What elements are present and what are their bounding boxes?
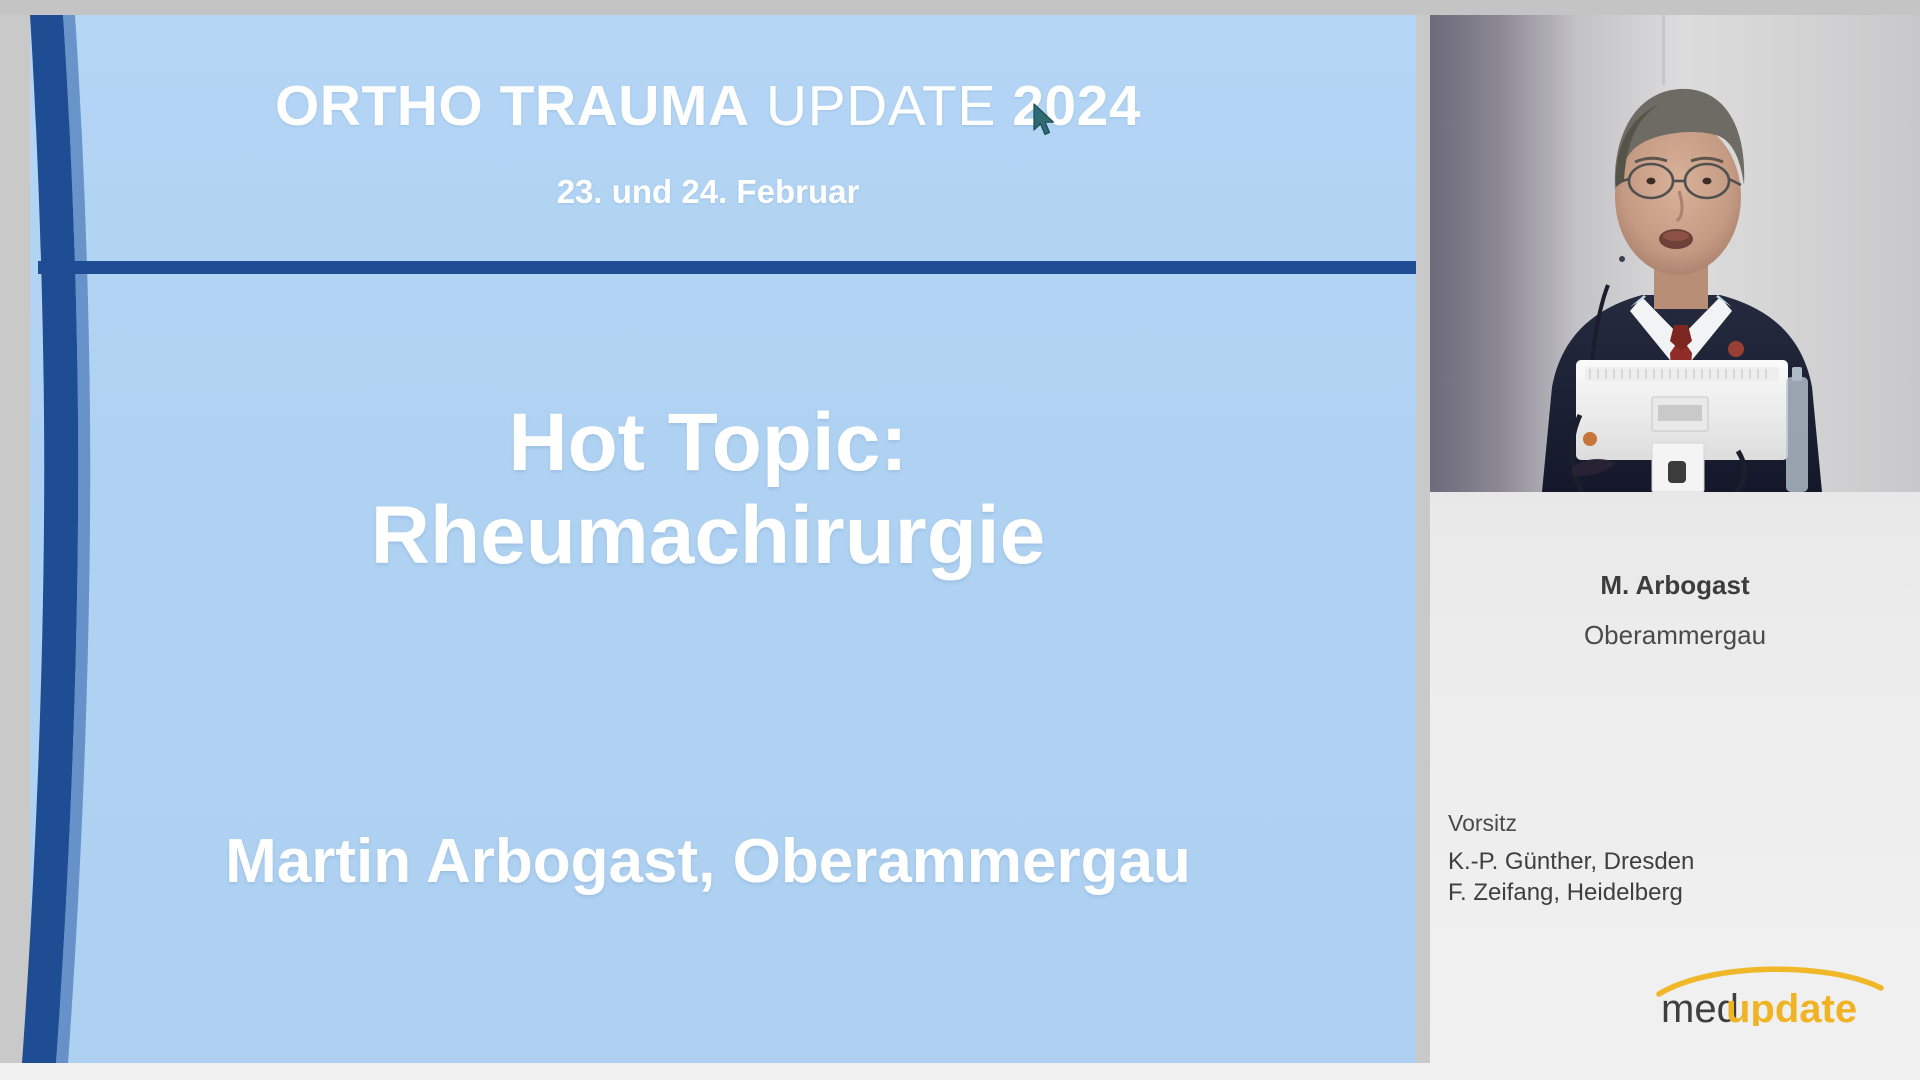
top-letterbox-strip: [0, 0, 1920, 15]
slide-header: ORTHO TRAUMA UPDATE 2024 23. und 24. Feb…: [0, 15, 1416, 273]
slide-body: Hot Topic: Rheumachirurgie Martin Arboga…: [0, 274, 1416, 1063]
medupdate-logo[interactable]: med update: [1655, 960, 1885, 1026]
arrow-pointer-icon: [1032, 103, 1058, 137]
presentation-slide: ORTHO TRAUMA UPDATE 2024 23. und 24. Feb…: [0, 15, 1416, 1063]
event-title: ORTHO TRAUMA UPDATE 2024: [0, 77, 1416, 135]
bottom-letterbox-strip: [0, 1063, 1920, 1080]
event-title-part-update: UPDATE: [766, 74, 996, 138]
chair-block: Vorsitz K.-P. Günther, Dresden F. Zeifan…: [1448, 810, 1908, 908]
slide-presenter-name: Martin Arbogast, Oberammergau: [0, 826, 1416, 897]
header-divider: [38, 261, 1416, 274]
speaker-name: M. Arbogast: [1430, 570, 1920, 601]
slide-main-title-line-1: Hot Topic:: [0, 396, 1416, 489]
slide-main-title-line-2: Rheumachirurgie: [0, 489, 1416, 582]
speaker-side-panel: M. Arbogast Oberammergau Vorsitz K.-P. G…: [1430, 15, 1920, 1063]
chair-person-2: F. Zeifang, Heidelberg: [1448, 878, 1908, 909]
speaker-video-feed[interactable]: [1430, 15, 1920, 492]
event-date: 23. und 24. Februar: [0, 173, 1416, 211]
speaker-city: Oberammergau: [1430, 620, 1920, 651]
chair-label: Vorsitz: [1448, 810, 1908, 837]
screen-root: ORTHO TRAUMA UPDATE 2024 23. und 24. Feb…: [0, 0, 1920, 1080]
slide-main-title: Hot Topic: Rheumachirurgie: [0, 396, 1416, 583]
svg-text:update: update: [1726, 987, 1857, 1026]
chair-person-1: K.-P. Günther, Dresden: [1448, 847, 1908, 878]
event-title-part-ortho-trauma: ORTHO TRAUMA: [275, 74, 750, 138]
